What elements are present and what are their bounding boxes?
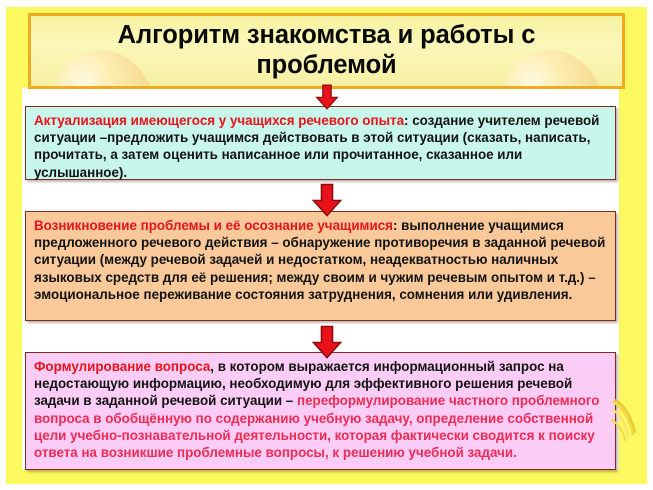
down-arrow-icon-2	[310, 183, 344, 217]
page-title: Алгоритм знакомства и работы с проблемой	[31, 20, 622, 80]
step-1-heading: Актуализация имеющегося у учащихся речев…	[34, 113, 404, 128]
step-3-heading: Формулирование вопроса	[34, 359, 210, 374]
step-2-separator: :	[393, 218, 401, 233]
step-box-1: Актуализация имеющегося у учащихся речев…	[25, 106, 616, 180]
step-1-separator: :	[404, 113, 412, 128]
step-box-2: Возникновение проблемы и её осознание уч…	[25, 211, 616, 321]
step-2-heading: Возникновение проблемы и её осознание уч…	[34, 218, 393, 233]
down-arrow-icon-3	[310, 325, 344, 359]
step-3-separator: ,	[210, 359, 217, 374]
title-banner: Алгоритм знакомства и работы с проблемой	[28, 13, 625, 89]
step-box-3: Формулирование вопроса, в котором выража…	[25, 352, 616, 470]
slide-canvas: Алгоритм знакомства и работы с проблемой…	[0, 0, 653, 490]
down-arrow-icon-1	[314, 84, 340, 110]
